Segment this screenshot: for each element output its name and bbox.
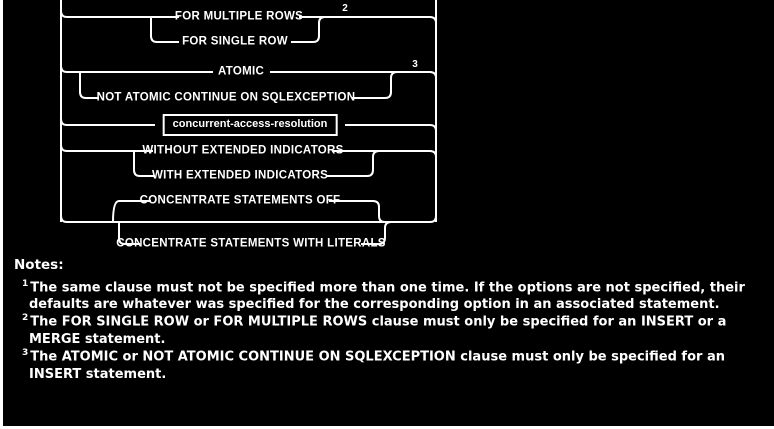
branch-label-concentrate-statements-with-literals[interactable]: CONCENTRATE STATEMENTS WITH LITERALS <box>116 238 386 250</box>
note-item-2: 2The FOR SINGLE ROW or FOR MULTIPLE ROWS… <box>14 313 774 348</box>
branch-label-for-single-row[interactable]: FOR SINGLE ROW <box>182 36 288 48</box>
branch-label-without-extended-indicators[interactable]: WITHOUT EXTENDED INDICATORS <box>142 145 343 157</box>
syntax-diagram: FOR MULTIPLE ROWS FOR SINGLE ROW ATOMIC … <box>3 0 774 258</box>
railroad-track-lines <box>3 0 774 258</box>
branch-label-atomic[interactable]: ATOMIC <box>218 66 264 78</box>
diagram-footnote-marker-3[interactable]: 3 <box>412 60 418 70</box>
page-frame: FOR MULTIPLE ROWS FOR SINGLE ROW ATOMIC … <box>0 0 774 429</box>
branch-label-for-multiple-rows[interactable]: FOR MULTIPLE ROWS <box>175 11 303 23</box>
branch-label-with-extended-indicators[interactable]: WITH EXTENDED INDICATORS <box>152 170 328 182</box>
note-text-2: The FOR SINGLE ROW or FOR MULTIPLE ROWS … <box>29 315 726 347</box>
branch-label-not-atomic-continue-on-sqlexception[interactable]: NOT ATOMIC CONTINUE ON SQLEXCEPTION <box>97 92 356 104</box>
note-text-3: The ATOMIC or NOT ATOMIC CONTINUE ON SQL… <box>29 349 725 381</box>
notes-heading: Notes: <box>14 258 774 273</box>
note-text-1: The same clause must not be specified mo… <box>29 280 745 312</box>
branch-label-concentrate-statements-off[interactable]: CONCENTRATE STATEMENTS OFF <box>140 195 341 207</box>
branch-nonterminal-concurrent-access-resolution[interactable]: concurrent-access-resolution <box>163 114 338 136</box>
note-item-1: 1The same clause must not be specified m… <box>14 279 774 314</box>
note-item-3: 3The ATOMIC or NOT ATOMIC CONTINUE ON SQ… <box>14 348 774 383</box>
diagram-footnote-marker-2[interactable]: 2 <box>342 4 348 14</box>
notes-section: Notes: 1The same clause must not be spec… <box>3 258 774 383</box>
